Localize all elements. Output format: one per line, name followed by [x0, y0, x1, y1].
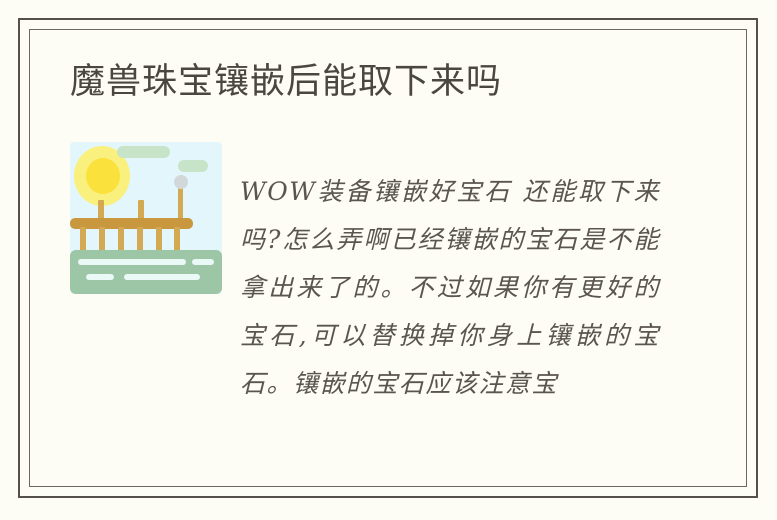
water-area	[70, 250, 222, 294]
article-body-text: WOW装备镶嵌好宝石 还能取下来吗?怎么弄啊已经镶嵌的宝石是不能拿出来了的。不过…	[240, 168, 660, 408]
pier-sunset-illustration	[70, 142, 222, 294]
lamp-head-icon	[174, 175, 188, 189]
article-frame-outer: 魔兽珠宝镶嵌后能取下来吗	[18, 18, 758, 498]
wave-line-3	[86, 274, 114, 280]
article-frame-inner: 魔兽珠宝镶嵌后能取下来吗	[29, 29, 747, 487]
page-title: 魔兽珠宝镶嵌后能取下来吗	[70, 60, 502, 104]
wave-line-1	[78, 259, 186, 265]
cloud-icon-left	[117, 146, 170, 158]
wave-line-2	[192, 259, 214, 265]
page-root: { "page": { "background_color": "#FDFDF5…	[0, 0, 777, 520]
cloud-icon-right	[178, 160, 208, 172]
article-container: 魔兽珠宝镶嵌后能取下来吗	[30, 30, 746, 486]
wave-line-4	[124, 274, 200, 280]
sun-icon	[86, 158, 120, 194]
